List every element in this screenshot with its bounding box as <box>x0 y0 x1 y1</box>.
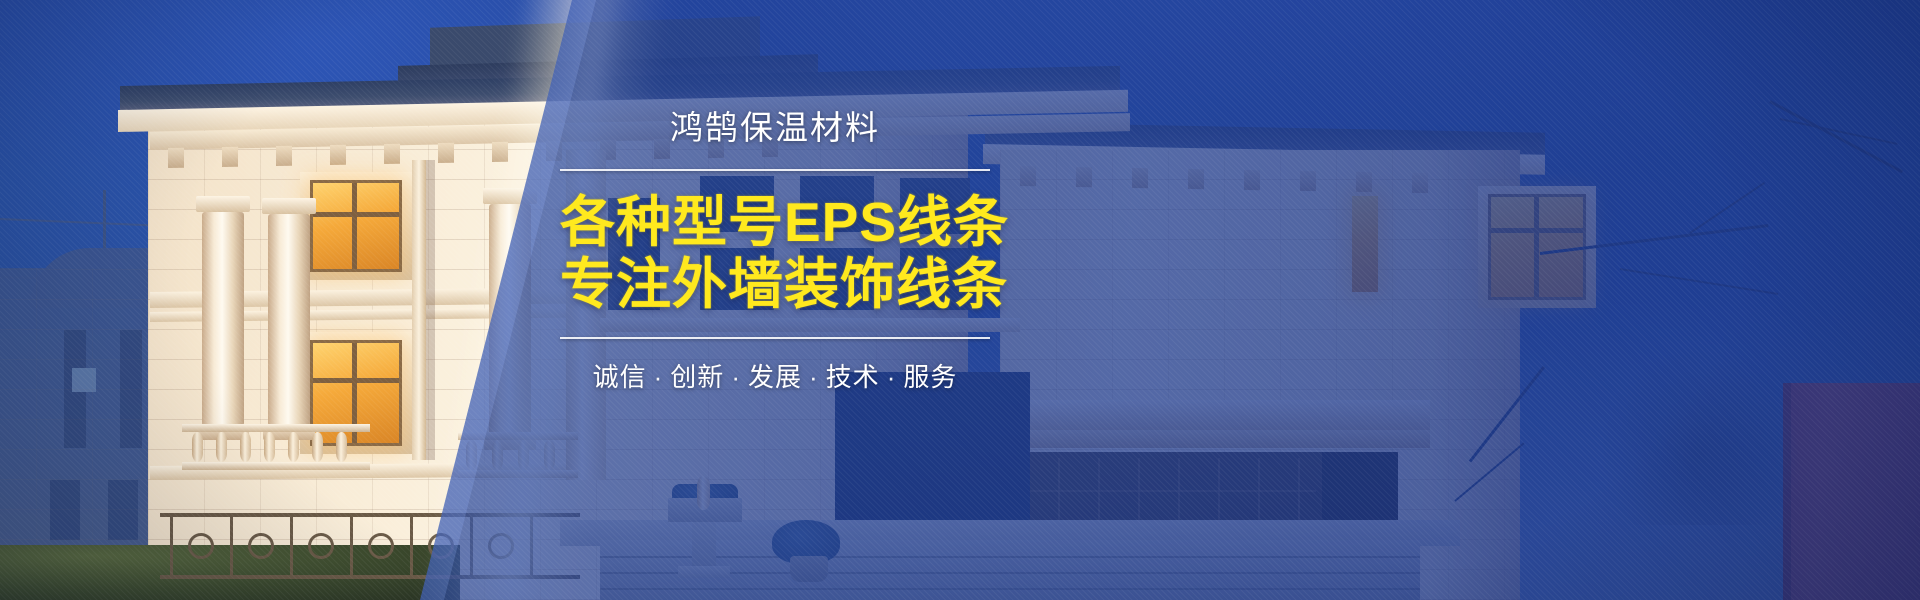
headline-line-2: 专注外墙装饰线条 <box>560 255 990 314</box>
tagline-separator: · <box>654 362 664 392</box>
tagline: 诚信·创新·发展·技术·服务 <box>560 357 990 394</box>
tagline-item-0: 诚信 <box>593 362 647 392</box>
tagline-item-2: 发展 <box>748 362 802 392</box>
tagline-separator: · <box>887 362 897 392</box>
window-frame <box>310 180 402 272</box>
divider-top <box>560 169 990 171</box>
pilaster <box>412 160 426 460</box>
brand-name: 鸿鹄保温材料 <box>560 108 990 148</box>
tagline-item-3: 技术 <box>826 362 880 392</box>
tagline-separator: · <box>809 362 819 392</box>
pilaster-shadow <box>426 160 435 460</box>
hero-banner: 鸿鹄保温材料 各种型号EPS线条 专注外墙装饰线条 诚信·创新·发展·技术·服务 <box>0 0 1920 600</box>
banner-text-block: 鸿鹄保温材料 各种型号EPS线条 专注外墙装饰线条 诚信·创新·发展·技术·服务 <box>560 108 990 394</box>
tagline-item-1: 创新 <box>670 362 724 392</box>
roof-mast <box>103 190 106 252</box>
divider-bottom <box>560 337 990 339</box>
headline-line-1: 各种型号EPS线条 <box>560 193 990 252</box>
tagline-item-4: 服务 <box>903 362 957 392</box>
tagline-separator: · <box>731 362 741 392</box>
